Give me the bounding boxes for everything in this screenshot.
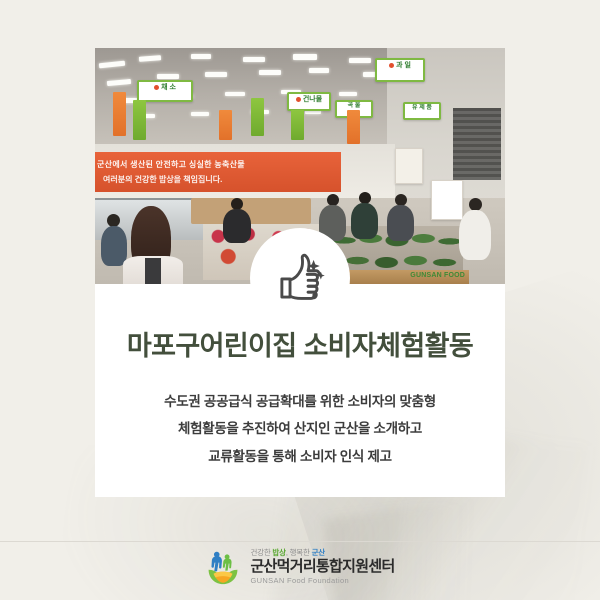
footer-organization-name: 군산먹거리통합지원센터 bbox=[250, 558, 394, 575]
photo-poster bbox=[431, 180, 463, 220]
ceiling-light bbox=[191, 54, 211, 59]
footer-tagline: 건강한 밥상, 행복한 군산 bbox=[250, 548, 394, 557]
photo-pennant bbox=[347, 110, 360, 144]
footer-text-group: 건강한 밥상, 행복한 군산 군산먹거리통합지원센터 GUNSAN Food F… bbox=[250, 548, 394, 586]
photo-shutter bbox=[453, 108, 501, 180]
description-line: 수도권 공공급식 공급확대를 위한 소비자의 맞춤형 bbox=[95, 388, 505, 416]
photo-shopper bbox=[223, 209, 251, 243]
ceiling-light bbox=[157, 74, 179, 79]
content-card: 군산에서 생산된 안전하고 싱실한 농축산물 여러분의 건강한 밥상을 책임집니… bbox=[95, 48, 505, 497]
poster-page: 군산에서 생산된 안전하고 싱실한 농축산물 여러분의 건강한 밥상을 책임집니… bbox=[0, 0, 600, 600]
aisle-sign-label: 건나물 bbox=[303, 96, 322, 103]
aisle-sign-label: 채 소 bbox=[161, 84, 176, 91]
photo-foreground-shopper bbox=[123, 206, 183, 284]
photo-produce-crate bbox=[191, 198, 311, 224]
footer-tagline-mid: , 행복한 bbox=[286, 548, 312, 557]
photo-orange-banner: 군산에서 생산된 안전하고 싱실한 농축산물 여러분의 건강한 밥상을 책임집니… bbox=[95, 152, 341, 192]
photo-pennant bbox=[251, 98, 264, 136]
gunsan-food-foundation-logo-icon bbox=[205, 548, 241, 586]
ceiling-light bbox=[293, 54, 317, 60]
aisle-sign-label: 곡 물 bbox=[348, 103, 361, 109]
ceiling-light bbox=[349, 58, 371, 63]
footer-organization-english: GUNSAN Food Foundation bbox=[250, 576, 394, 586]
aisle-sign-dried-herbs: 건나물 bbox=[287, 92, 331, 111]
photo-poster bbox=[395, 148, 423, 184]
footer-tagline-highlight-1: 밥상 bbox=[272, 548, 285, 557]
photo-shopper bbox=[459, 210, 491, 260]
banner-line-1: 군산에서 생산된 안전하고 싱실한 농축산물 bbox=[97, 159, 245, 170]
photo-pennant bbox=[219, 110, 232, 140]
ceiling-light bbox=[259, 70, 281, 75]
ceiling-light bbox=[339, 92, 357, 96]
ceiling-light bbox=[243, 57, 265, 62]
footer-tagline-highlight-2: 군산 bbox=[312, 548, 325, 557]
ceiling-light bbox=[225, 92, 245, 96]
banner-line-2: 여러분의 건강한 밥상을 책임집니다. bbox=[103, 174, 222, 185]
thumbs-up-sparkle-icon bbox=[271, 249, 329, 307]
footer-divider bbox=[0, 541, 600, 542]
photo-shopper bbox=[351, 203, 378, 239]
ceiling-light bbox=[309, 68, 329, 73]
aisle-sign-label: 유 제 품 bbox=[412, 105, 432, 111]
ceiling-light bbox=[205, 72, 227, 77]
aisle-sign-label: 과 일 bbox=[396, 62, 411, 69]
thumbs-up-badge bbox=[250, 228, 350, 328]
photo-shopper bbox=[387, 205, 414, 241]
photo-watermelon-crate: GUNSAN FOOD bbox=[329, 270, 469, 284]
photo-pennant bbox=[133, 100, 146, 140]
aisle-sign-dairy: 유 제 품 bbox=[403, 102, 441, 120]
footer: 건강한 밥상, 행복한 군산 군산먹거리통합지원센터 GUNSAN Food F… bbox=[0, 548, 600, 586]
aisle-sign-vegetables: 채 소 bbox=[137, 80, 193, 102]
crate-label: GUNSAN FOOD bbox=[410, 272, 465, 279]
photo-pennant bbox=[113, 92, 126, 136]
photo-pennant bbox=[291, 110, 304, 140]
description-block: 수도권 공공급식 공급확대를 위한 소비자의 맞춤형 체험활동을 추진하여 산지… bbox=[95, 364, 505, 471]
footer-tagline-pre: 건강한 bbox=[250, 548, 272, 557]
aisle-sign-fruit: 과 일 bbox=[375, 58, 425, 82]
description-line: 체험활동을 추진하여 산지인 군산을 소개하고 bbox=[95, 415, 505, 443]
description-line: 교류활동을 통해 소비자 인식 제고 bbox=[95, 443, 505, 471]
ceiling-light bbox=[191, 112, 209, 116]
